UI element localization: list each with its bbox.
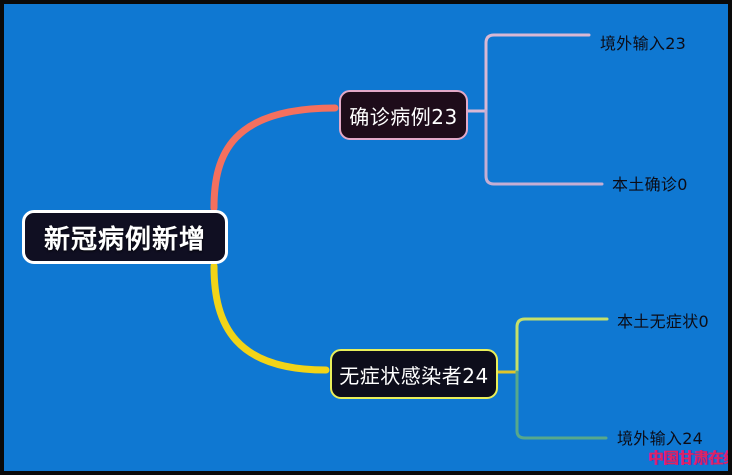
diagram-board: 新冠病例新增 确诊病例23 无症状感染者24 境外输入23 本土确诊0 本土无症… bbox=[4, 4, 728, 471]
node-confirmed-cases[interactable]: 确诊病例23 bbox=[339, 90, 468, 140]
leaf-confirmed-imported: 境外输入23 bbox=[600, 30, 686, 54]
bracket-confirmed-lower bbox=[486, 111, 602, 184]
bracket-asymptomatic-upper bbox=[517, 319, 607, 372]
node-root[interactable]: 新冠病例新增 bbox=[22, 210, 228, 264]
watermark: 中国甘肃在线 bbox=[649, 447, 728, 468]
diagram-canvas: 新冠病例新增 确诊病例23 无症状感染者24 境外输入23 本土确诊0 本土无症… bbox=[0, 0, 732, 475]
node-asymptomatic-cases[interactable]: 无症状感染者24 bbox=[330, 349, 498, 399]
bracket-confirmed-upper bbox=[486, 35, 589, 111]
bracket-asymptomatic-lower bbox=[517, 372, 606, 438]
curve-root-to-confirmed bbox=[214, 108, 335, 208]
leaf-asymptomatic-imported: 境外输入24 bbox=[617, 425, 703, 449]
leaf-confirmed-local: 本土确诊0 bbox=[612, 171, 688, 195]
curve-root-to-asymptomatic bbox=[214, 266, 326, 370]
leaf-asymptomatic-local: 本土无症状0 bbox=[617, 308, 709, 332]
